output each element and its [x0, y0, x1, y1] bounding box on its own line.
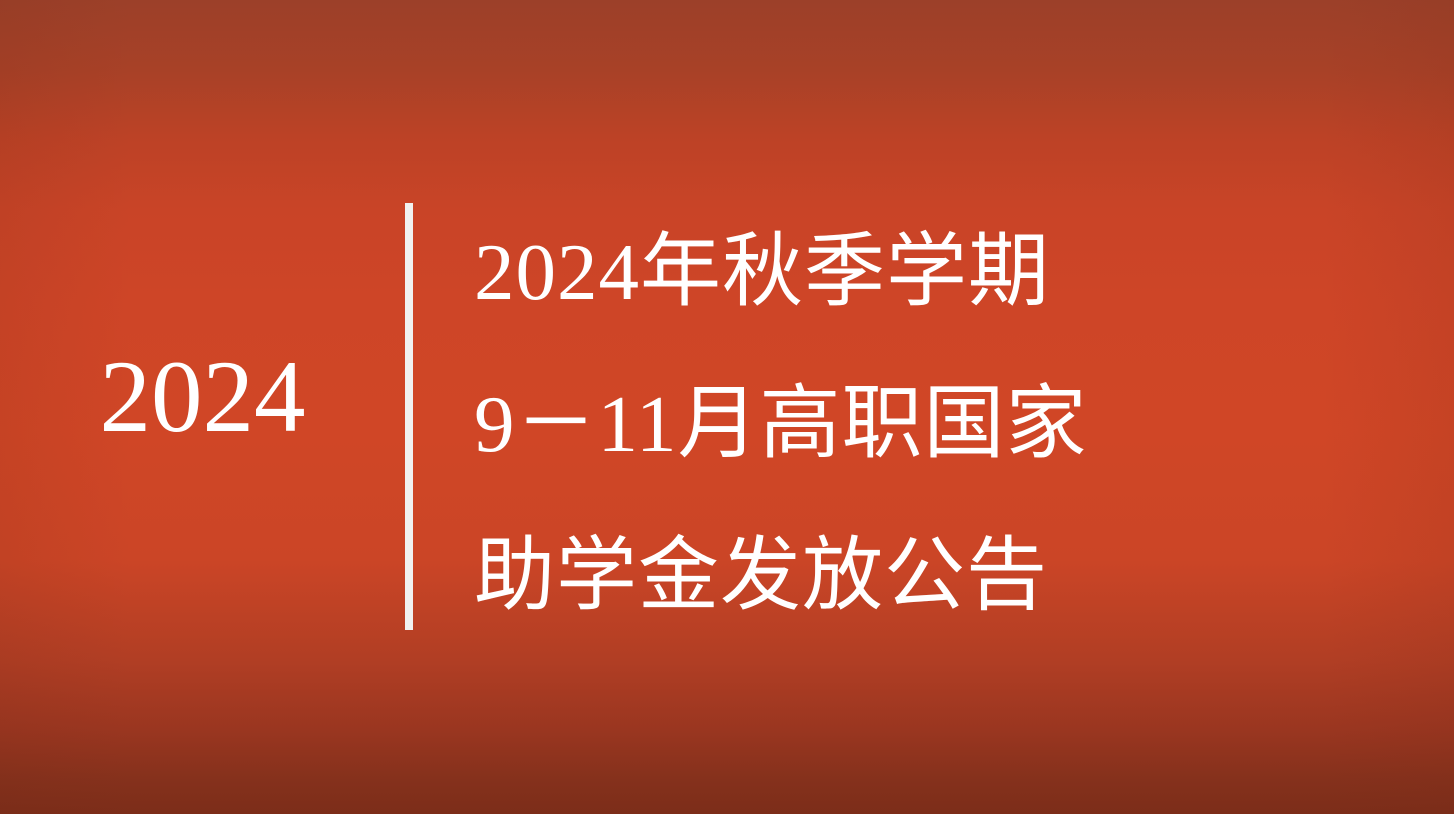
headline-line-2: 9－11月高职国家	[474, 348, 1374, 500]
poster-content: 2024 2024年秋季学期 9－11月高职国家 助学金发放公告	[0, 0, 1454, 814]
year-badge: 2024	[0, 345, 405, 449]
announcement-poster: 2024 2024年秋季学期 9－11月高职国家 助学金发放公告	[0, 0, 1454, 814]
headline-line-3: 助学金发放公告	[474, 500, 1374, 652]
headline-line-1: 2024年秋季学期	[474, 196, 1374, 348]
headline-block: 2024年秋季学期 9－11月高职国家 助学金发放公告	[474, 196, 1374, 652]
vertical-divider	[405, 203, 413, 630]
